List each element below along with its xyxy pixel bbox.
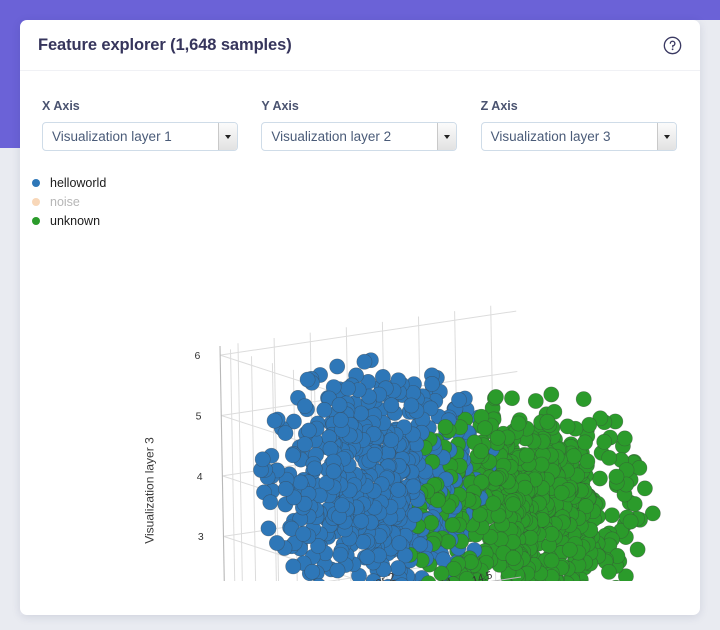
x-axis-select[interactable]: Visualization layer 1: [42, 122, 238, 151]
z-axis-select-value: Visualization layer 3: [491, 129, 611, 144]
chevron-down-icon[interactable]: [218, 123, 237, 150]
svg-text:3: 3: [198, 531, 204, 543]
y-axis-group: Y Axis Visualization layer 2: [261, 99, 480, 151]
y-axis-label: Y Axis: [261, 99, 480, 113]
legend-item-helloworld[interactable]: helloworld: [32, 173, 106, 192]
chevron-down-icon[interactable]: [657, 123, 676, 150]
x-axis-group: X Axis Visualization layer 1: [42, 99, 261, 151]
legend-item-noise[interactable]: noise: [32, 192, 106, 211]
card-header: Feature explorer (1,648 samples): [20, 20, 700, 71]
legend-swatch: [32, 217, 40, 225]
legend-label: unknown: [50, 214, 100, 228]
chevron-down-icon[interactable]: [437, 123, 456, 150]
plot-points: [253, 353, 660, 581]
x-axis-select-value: Visualization layer 1: [52, 129, 172, 144]
legend-label: noise: [50, 195, 80, 209]
svg-text:Visualization layer 3: Visualization layer 3: [142, 437, 156, 544]
legend-swatch: [32, 198, 40, 206]
z-axis-label: Z Axis: [481, 99, 700, 113]
svg-text:4: 4: [197, 471, 203, 483]
z-axis-select[interactable]: Visualization layer 3: [481, 122, 677, 151]
chart-legend: helloworldnoiseunknown: [32, 173, 106, 230]
svg-text:5: 5: [196, 410, 202, 422]
svg-text:6: 6: [195, 350, 201, 362]
feature-explorer-card: Feature explorer (1,648 samples) X Axis …: [20, 20, 700, 615]
y-axis-select-value: Visualization layer 2: [271, 129, 391, 144]
legend-item-unknown[interactable]: unknown: [32, 211, 106, 230]
scatter-plot-area[interactable]: helloworldnoiseunknown 00.511.522.533.51…: [20, 151, 700, 581]
page-title: Feature explorer (1,648 samples): [38, 36, 292, 55]
legend-swatch: [32, 179, 40, 187]
y-axis-select[interactable]: Visualization layer 2: [261, 122, 457, 151]
help-circle-icon[interactable]: [663, 36, 682, 55]
scatter-plot-3d[interactable]: 00.511.522.533.51111.51212.51313.51414.5…: [20, 151, 700, 581]
x-axis-label: X Axis: [42, 99, 261, 113]
z-axis-group: Z Axis Visualization layer 3: [481, 99, 700, 151]
axis-selectors: X Axis Visualization layer 1 Y Axis Visu…: [20, 71, 700, 151]
legend-label: helloworld: [50, 176, 106, 190]
